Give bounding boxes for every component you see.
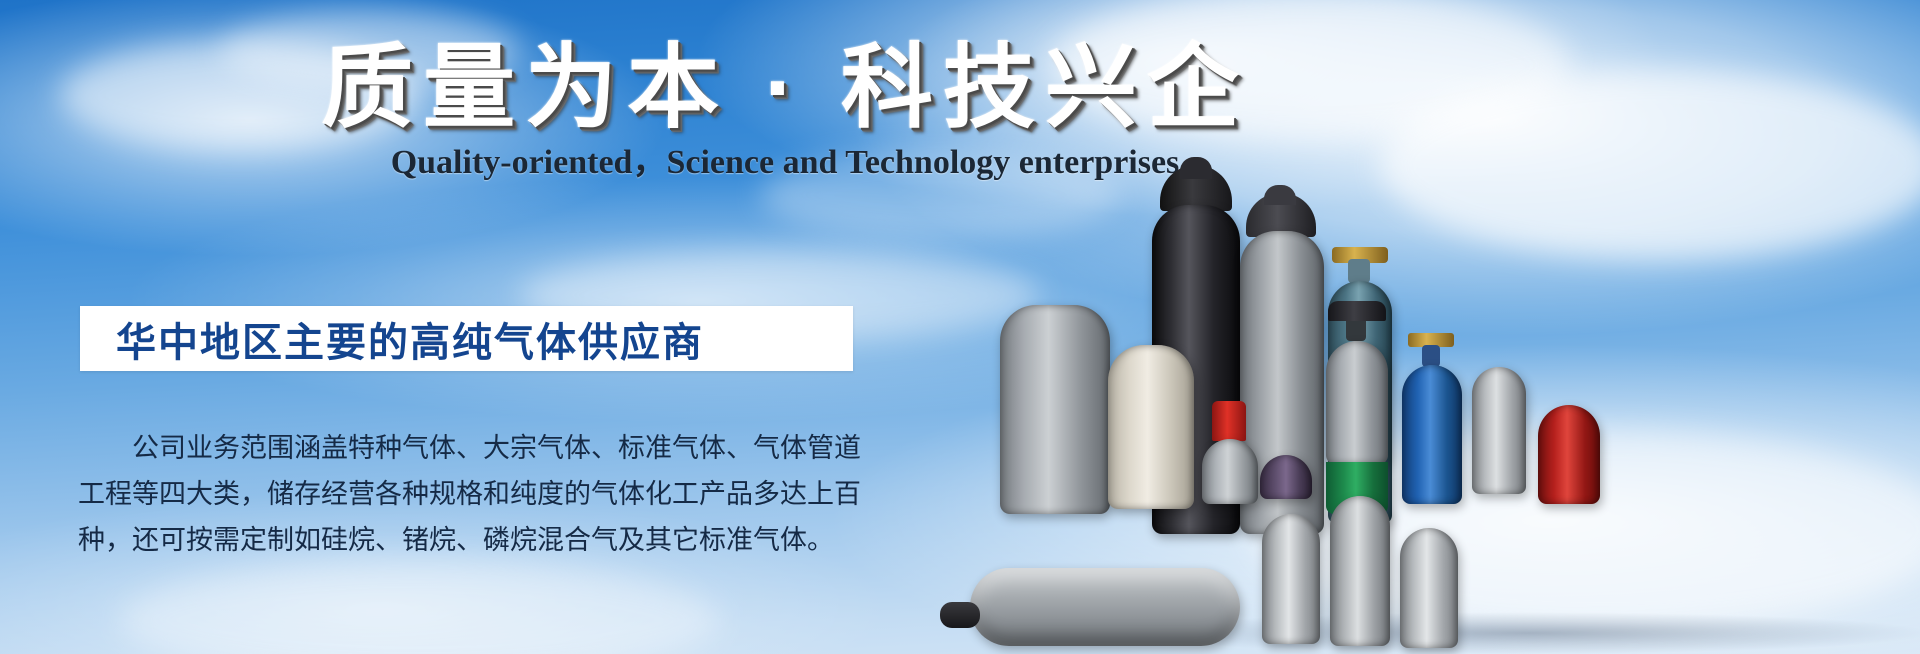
horizontal-tank-valve bbox=[940, 602, 980, 628]
callout-box: 华中地区主要的高纯气体供应商 bbox=[80, 306, 853, 371]
purple-small-cylinder bbox=[1260, 455, 1312, 499]
description-line-3: 种，还可按需定制如硅烷、锗烷、磷烷混合气及其它标准气体。 bbox=[78, 517, 868, 563]
grey-body-green-base bbox=[1326, 341, 1388, 464]
banner-description: 公司业务范围涵盖特种气体、大宗气体、标准气体、气体管道 工程等四大类，储存经营各… bbox=[78, 425, 868, 563]
promo-banner: 质量为本 · 科技兴企 Quality-oriented，Science and… bbox=[0, 0, 1920, 654]
cream-cylinder bbox=[1108, 345, 1194, 509]
gas-cylinder-group bbox=[1150, 155, 1920, 654]
cylinder-neck-teal bbox=[1348, 259, 1370, 283]
banner-subtitle-english: Quality-oriented，Science and Technology … bbox=[315, 134, 1255, 183]
description-line-2: 工程等四大类，储存经营各种规格和纯度的气体化工产品多达上百 bbox=[78, 471, 868, 517]
black-cap-green-cyl bbox=[1328, 301, 1386, 321]
red-aluminium-cylinder bbox=[1538, 405, 1600, 504]
grey-large-cylinder bbox=[1000, 305, 1110, 514]
banner-headline: 质量为本 · 科技兴企 bbox=[315, 22, 1255, 137]
short-aluminium-cylinder-2 bbox=[1330, 496, 1390, 646]
short-aluminium-cylinder-3 bbox=[1400, 528, 1458, 648]
red-valve-cap bbox=[1212, 401, 1246, 441]
short-aluminium-cylinder-1 bbox=[1262, 514, 1320, 644]
red-top-small-cylinder bbox=[1202, 439, 1258, 504]
cloud-decoration bbox=[120, 560, 720, 654]
cylinder-cap-inner-grey-1 bbox=[1264, 185, 1296, 205]
horizontal-grey-tank bbox=[970, 568, 1240, 646]
description-line-1: 公司业务范围涵盖特种气体、大宗气体、标准气体、气体管道 bbox=[78, 425, 868, 471]
callout-text: 华中地区主要的高纯气体供应商 bbox=[116, 310, 704, 368]
silver-aluminium-cylinder bbox=[1472, 367, 1526, 494]
cylinder-cap-inner-black bbox=[1180, 157, 1212, 179]
cylinder-neck-blue bbox=[1422, 345, 1440, 367]
blue-cylinder bbox=[1402, 365, 1462, 504]
